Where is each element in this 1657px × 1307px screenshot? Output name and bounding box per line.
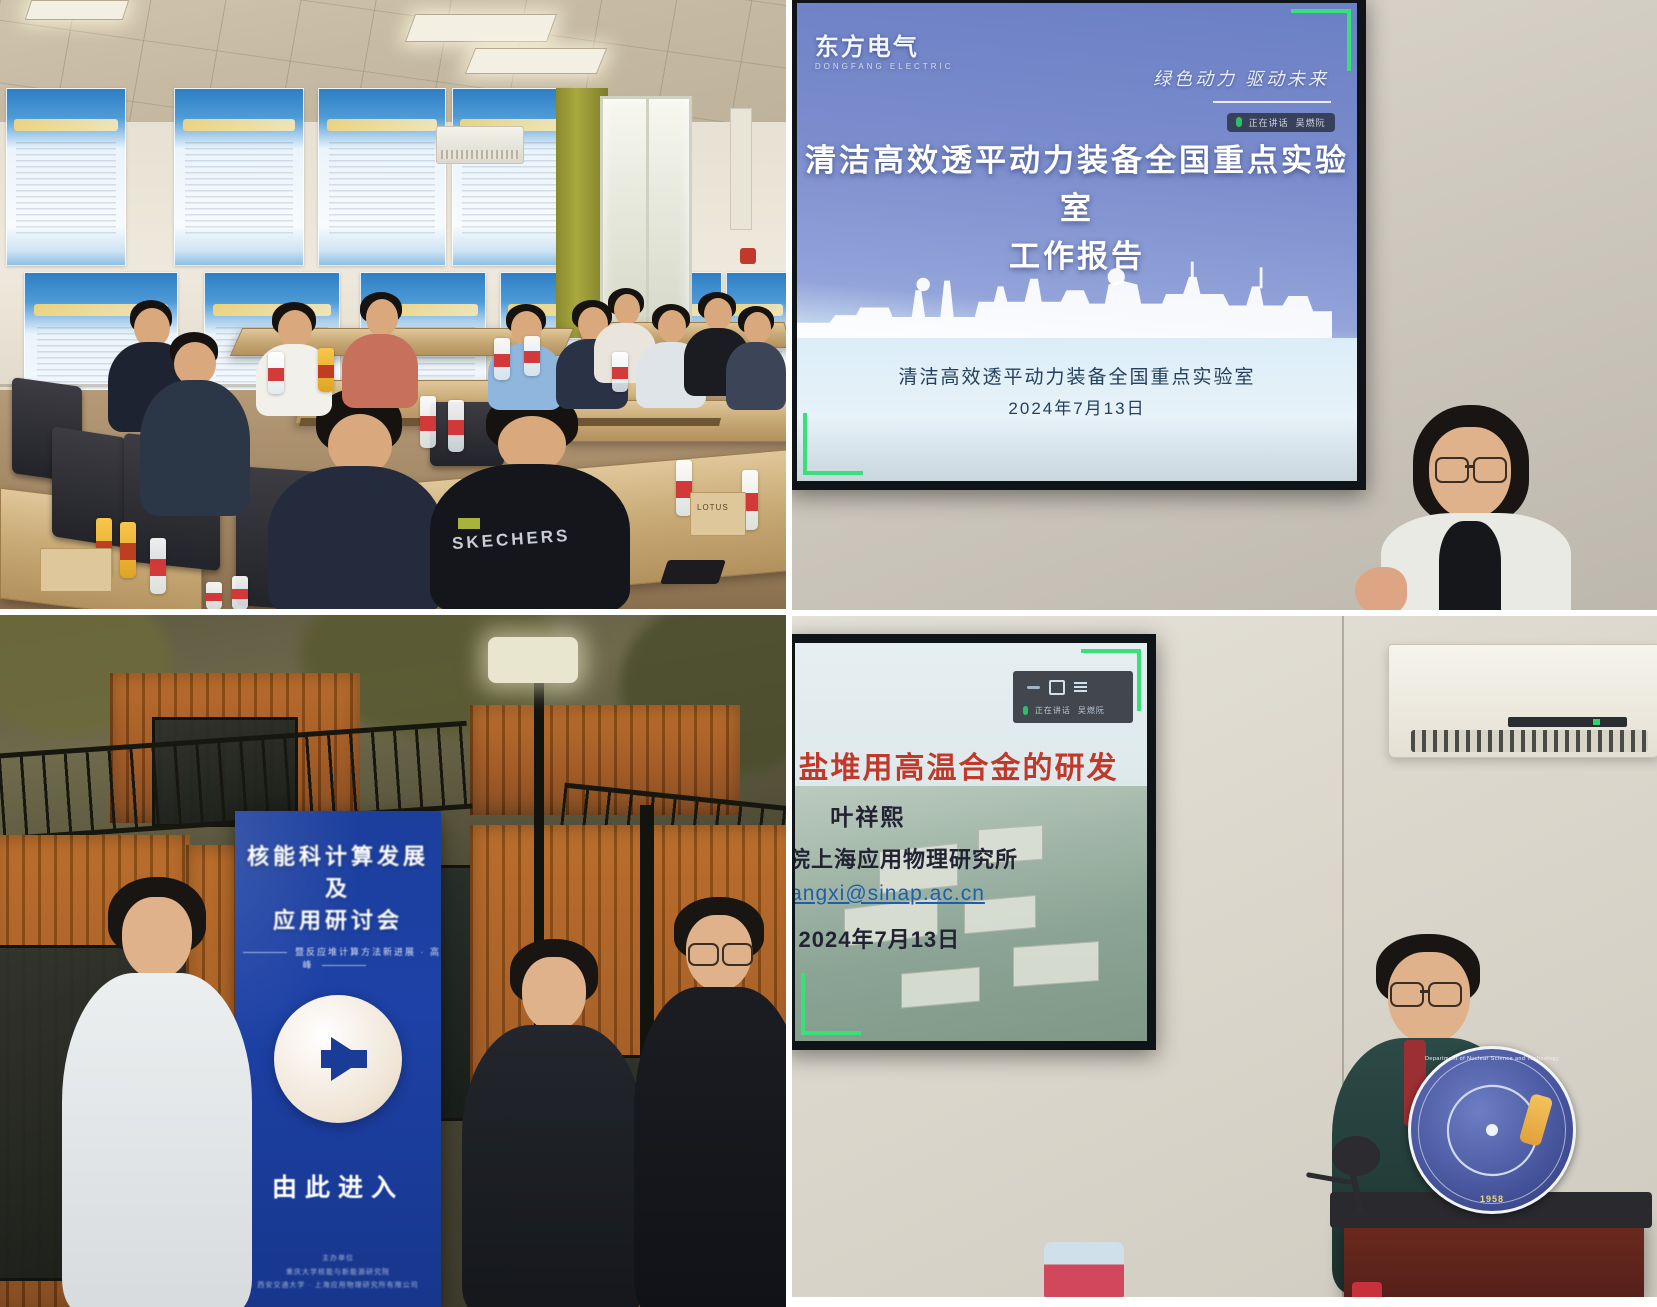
mic-icon bbox=[1023, 706, 1028, 715]
wall-poster bbox=[6, 88, 126, 266]
mic-icon bbox=[1332, 1136, 1380, 1176]
ac-display-panel bbox=[1508, 717, 1627, 727]
water-bottle bbox=[524, 336, 540, 376]
ceiling-light bbox=[465, 48, 608, 74]
water-bottle bbox=[232, 576, 248, 609]
meeting-user-label: 吴燃阮 bbox=[1078, 705, 1105, 716]
conference-room-photo: SKECHERS bbox=[0, 0, 786, 609]
water-bottle bbox=[206, 582, 222, 609]
wall-poster bbox=[174, 88, 304, 266]
banner-title: 核能科计算发展及 应用研讨会 bbox=[235, 841, 441, 937]
wall-conduit bbox=[730, 108, 752, 230]
panel-lecture-slide-sinap-speaker: 盐堆用高温合金的研发 叶祥熙 院上海应用物理研究所 iangxi@sinap.a… bbox=[792, 616, 1657, 1297]
outdoor-photo: 核能科计算发展及 应用研讨会 暨反应堆计算方法新进展 · 高峰 由此进入 主办单… bbox=[0, 615, 786, 1307]
water-bottle bbox=[494, 338, 510, 380]
water-bottle bbox=[150, 538, 166, 594]
banner-title-line1: 核能科计算发展及 bbox=[235, 841, 441, 905]
slide-author: 叶祥熙 bbox=[830, 798, 905, 832]
attendee bbox=[726, 306, 786, 406]
meeting-user-label: 吴燃阮 bbox=[1296, 116, 1326, 129]
banner-footer: 主办单位 重庆大学核能与新能源研究院 西安交通大学 · 上海应用物理研究所有限公… bbox=[235, 1252, 441, 1292]
menu-icon bbox=[1074, 682, 1087, 692]
mic-icon bbox=[1236, 117, 1242, 127]
meeting-status-label: 正在讲话 bbox=[1249, 116, 1289, 129]
banner-subtitle: 暨反应堆计算方法新进展 · 高峰 bbox=[295, 947, 441, 970]
projection-screen-frame: 盐堆用高温合金的研发 叶祥熙 院上海应用物理研究所 iangxi@sinap.a… bbox=[792, 634, 1156, 1050]
projection-screen: 盐堆用高温合金的研发 叶祥熙 院上海应用物理研究所 iangxi@sinap.a… bbox=[795, 643, 1147, 1041]
dec-logo: 东方电气 DONGFANG ELECTRIC bbox=[815, 27, 954, 71]
projection-screen: 东方电气 DONGFANG ELECTRIC 绿色动力 驱动未来 正在讲话 吴燃… bbox=[797, 3, 1357, 481]
smartphone bbox=[660, 560, 726, 584]
lecture-photo: 盐堆用高温合金的研发 叶祥熙 院上海应用物理研究所 iangxi@sinap.a… bbox=[792, 616, 1657, 1297]
presentation-photo: 东方电气 DONGFANG ELECTRIC 绿色动力 驱动未来 正在讲话 吴燃… bbox=[792, 0, 1657, 610]
slide-dongfang-electric: 东方电气 DONGFANG ELECTRIC 绿色动力 驱动未来 正在讲话 吴燃… bbox=[797, 3, 1357, 481]
roll-up-banner: 核能科计算发展及 应用研讨会 暨反应堆计算方法新进展 · 高峰 由此进入 主办单… bbox=[235, 811, 441, 1307]
wall-poster bbox=[318, 88, 446, 266]
slide-sinap: 盐堆用高温合金的研发 叶祥熙 院上海应用物理研究所 iangxi@sinap.a… bbox=[795, 643, 1147, 1041]
dec-logo-cn: 东方电气 bbox=[815, 34, 919, 61]
arrow-right-icon bbox=[331, 1037, 365, 1081]
window-icon bbox=[1049, 680, 1065, 695]
ceiling-light bbox=[405, 14, 557, 42]
emblem-year: 1958 bbox=[1411, 1194, 1573, 1204]
minimize-icon bbox=[1027, 686, 1040, 689]
meeting-status-label: 正在讲话 bbox=[1035, 705, 1071, 716]
meeting-toolbar-overlay: 正在讲话 吴燃阮 bbox=[1013, 671, 1133, 723]
slide-date: 2024年7月13日 bbox=[797, 394, 1357, 424]
attendee-center bbox=[268, 388, 444, 609]
box-label: LOTUS bbox=[697, 503, 729, 512]
meeting-speaking-chip: 正在讲话 吴燃阮 bbox=[1023, 705, 1105, 716]
fire-alarm-icon bbox=[740, 248, 756, 264]
presenter-speaker bbox=[1377, 405, 1577, 610]
podium bbox=[1344, 1216, 1644, 1297]
banner-title-line2: 应用研讨会 bbox=[235, 905, 441, 937]
dec-logo-en: DONGFANG ELECTRIC bbox=[815, 62, 954, 71]
panel-outdoor-banner-group-photo: 核能科计算发展及 应用研讨会 暨反应堆计算方法新进展 · 高峰 由此进入 主办单… bbox=[0, 615, 786, 1307]
slide-handwriting: 绿色动力 驱动未来 bbox=[1153, 65, 1329, 91]
slide-date: 2024年7月13日 bbox=[799, 922, 961, 954]
slide-title-line1: 清洁高效透平动力装备全国重点实验室 bbox=[797, 137, 1357, 233]
atom-nucleus bbox=[1486, 1124, 1498, 1136]
wall-poster bbox=[452, 88, 572, 266]
meeting-toolbar-icons bbox=[1027, 680, 1087, 695]
banner-arrow-badge bbox=[274, 995, 402, 1123]
water-bottle bbox=[268, 352, 284, 394]
group-person-left bbox=[62, 877, 252, 1307]
presenter-hand bbox=[1355, 567, 1407, 610]
banner-footer-line2: 重庆大学核能与新能源研究院 bbox=[235, 1266, 441, 1279]
slide-email: iangxi@sinap.ac.cn bbox=[795, 882, 985, 906]
juice-bottle bbox=[120, 522, 136, 578]
photo-collage: SKECHERS bbox=[0, 0, 1657, 1307]
water-bottle bbox=[448, 400, 464, 452]
slide-subtitle: 清洁高效透平动力装备全国重点实验室 bbox=[797, 361, 1357, 394]
group-person-middle bbox=[462, 939, 644, 1307]
slide-title: 盐堆用高温合金的研发 bbox=[799, 743, 1119, 787]
air-conditioner-icon bbox=[436, 126, 524, 164]
red-cable-clip bbox=[1352, 1282, 1382, 1297]
shirt-badge bbox=[458, 518, 480, 529]
ac-vent bbox=[1411, 730, 1649, 752]
banner-enter-label: 由此进入 bbox=[235, 1168, 441, 1204]
banner-footer-line1: 主办单位 bbox=[235, 1252, 441, 1265]
attendee bbox=[140, 332, 250, 512]
panel-conference-room-discussion: SKECHERS bbox=[0, 0, 786, 609]
attendee bbox=[342, 292, 418, 404]
group-person-right bbox=[634, 897, 786, 1307]
air-conditioner-icon bbox=[1388, 644, 1657, 758]
snack-box bbox=[40, 548, 112, 592]
podium-emblem: Department of Nuclear Science and Techno… bbox=[1408, 1046, 1576, 1214]
skyline-graphic bbox=[797, 252, 1332, 338]
lamp-head bbox=[488, 637, 578, 683]
panel-presentation-slide-dongfang-electric: 东方电气 DONGFANG ELECTRIC 绿色动力 驱动未来 正在讲话 吴燃… bbox=[792, 0, 1657, 610]
juice-bottle bbox=[318, 348, 334, 392]
slide-organization: 院上海应用物理研究所 bbox=[795, 842, 1018, 874]
emblem-arc-text: Department of Nuclear Science and Techno… bbox=[1411, 1056, 1573, 1062]
water-bottle bbox=[420, 396, 436, 448]
banner-subtitle-row: 暨反应堆计算方法新进展 · 高峰 bbox=[235, 945, 441, 971]
water-bottle bbox=[612, 352, 628, 392]
slide-subtitle-block: 清洁高效透平动力装备全国重点实验室 2024年7月13日 bbox=[797, 361, 1357, 424]
foreground-object bbox=[1044, 1242, 1124, 1297]
slide-handwriting-underline bbox=[1213, 101, 1331, 103]
banner-footer-line3: 西安交通大学 · 上海应用物理研究所有限公司 bbox=[235, 1279, 441, 1292]
tissue-box: LOTUS bbox=[690, 492, 746, 536]
ceiling-light bbox=[25, 0, 129, 20]
chair bbox=[52, 426, 126, 548]
meeting-speaking-chip: 正在讲话 吴燃阮 bbox=[1227, 113, 1335, 132]
projection-screen-frame: 东方电气 DONGFANG ELECTRIC 绿色动力 驱动未来 正在讲话 吴燃… bbox=[792, 0, 1366, 490]
